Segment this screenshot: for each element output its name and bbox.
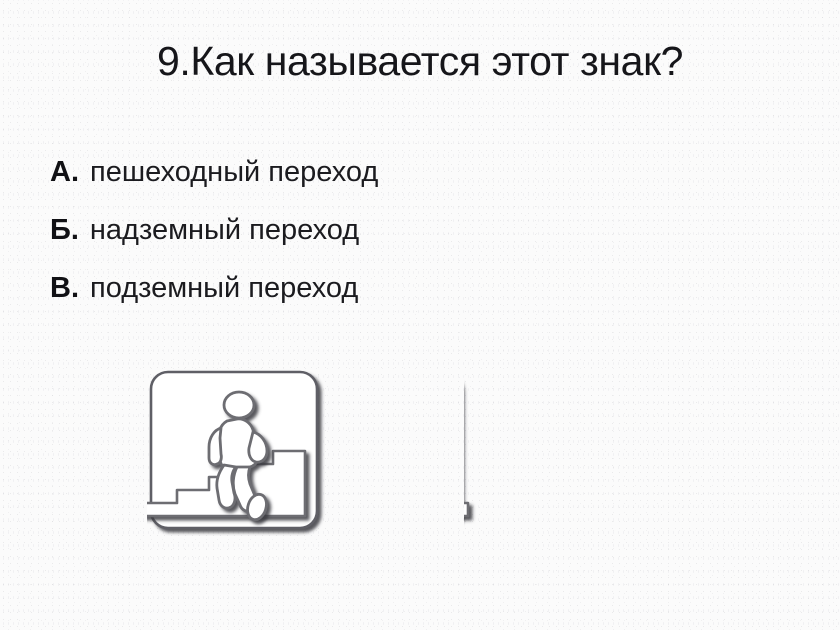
answer-option-a-label: пешеходный переход (90, 155, 378, 189)
answer-option-c-label: подземный переход (90, 271, 358, 305)
pedestrian-underpass-sign-left-icon (147, 368, 325, 536)
answer-options-list: А. пешеходный переход Б. надземный перех… (50, 155, 570, 329)
answer-option-a[interactable]: А. пешеходный переход (50, 155, 570, 213)
pedestrian-underpass-sign-right-icon (464, 368, 642, 536)
figure-leg-rear (217, 465, 236, 508)
slide-canvas: 9.Как называется этот знак? А. пешеходны… (0, 0, 840, 630)
staircase-shape (464, 451, 468, 516)
page-title: 9.Как называется этот знак? (0, 36, 840, 86)
answer-option-c-letter: В. (50, 271, 79, 305)
answer-option-b-letter: Б. (50, 213, 79, 247)
answer-option-b-label: надземный переход (90, 213, 359, 247)
answer-option-a-letter: А. (50, 155, 79, 189)
answer-option-c[interactable]: В. подземный переход (50, 271, 570, 329)
answer-option-b[interactable]: Б. надземный переход (50, 213, 570, 271)
figure-head (224, 392, 254, 418)
